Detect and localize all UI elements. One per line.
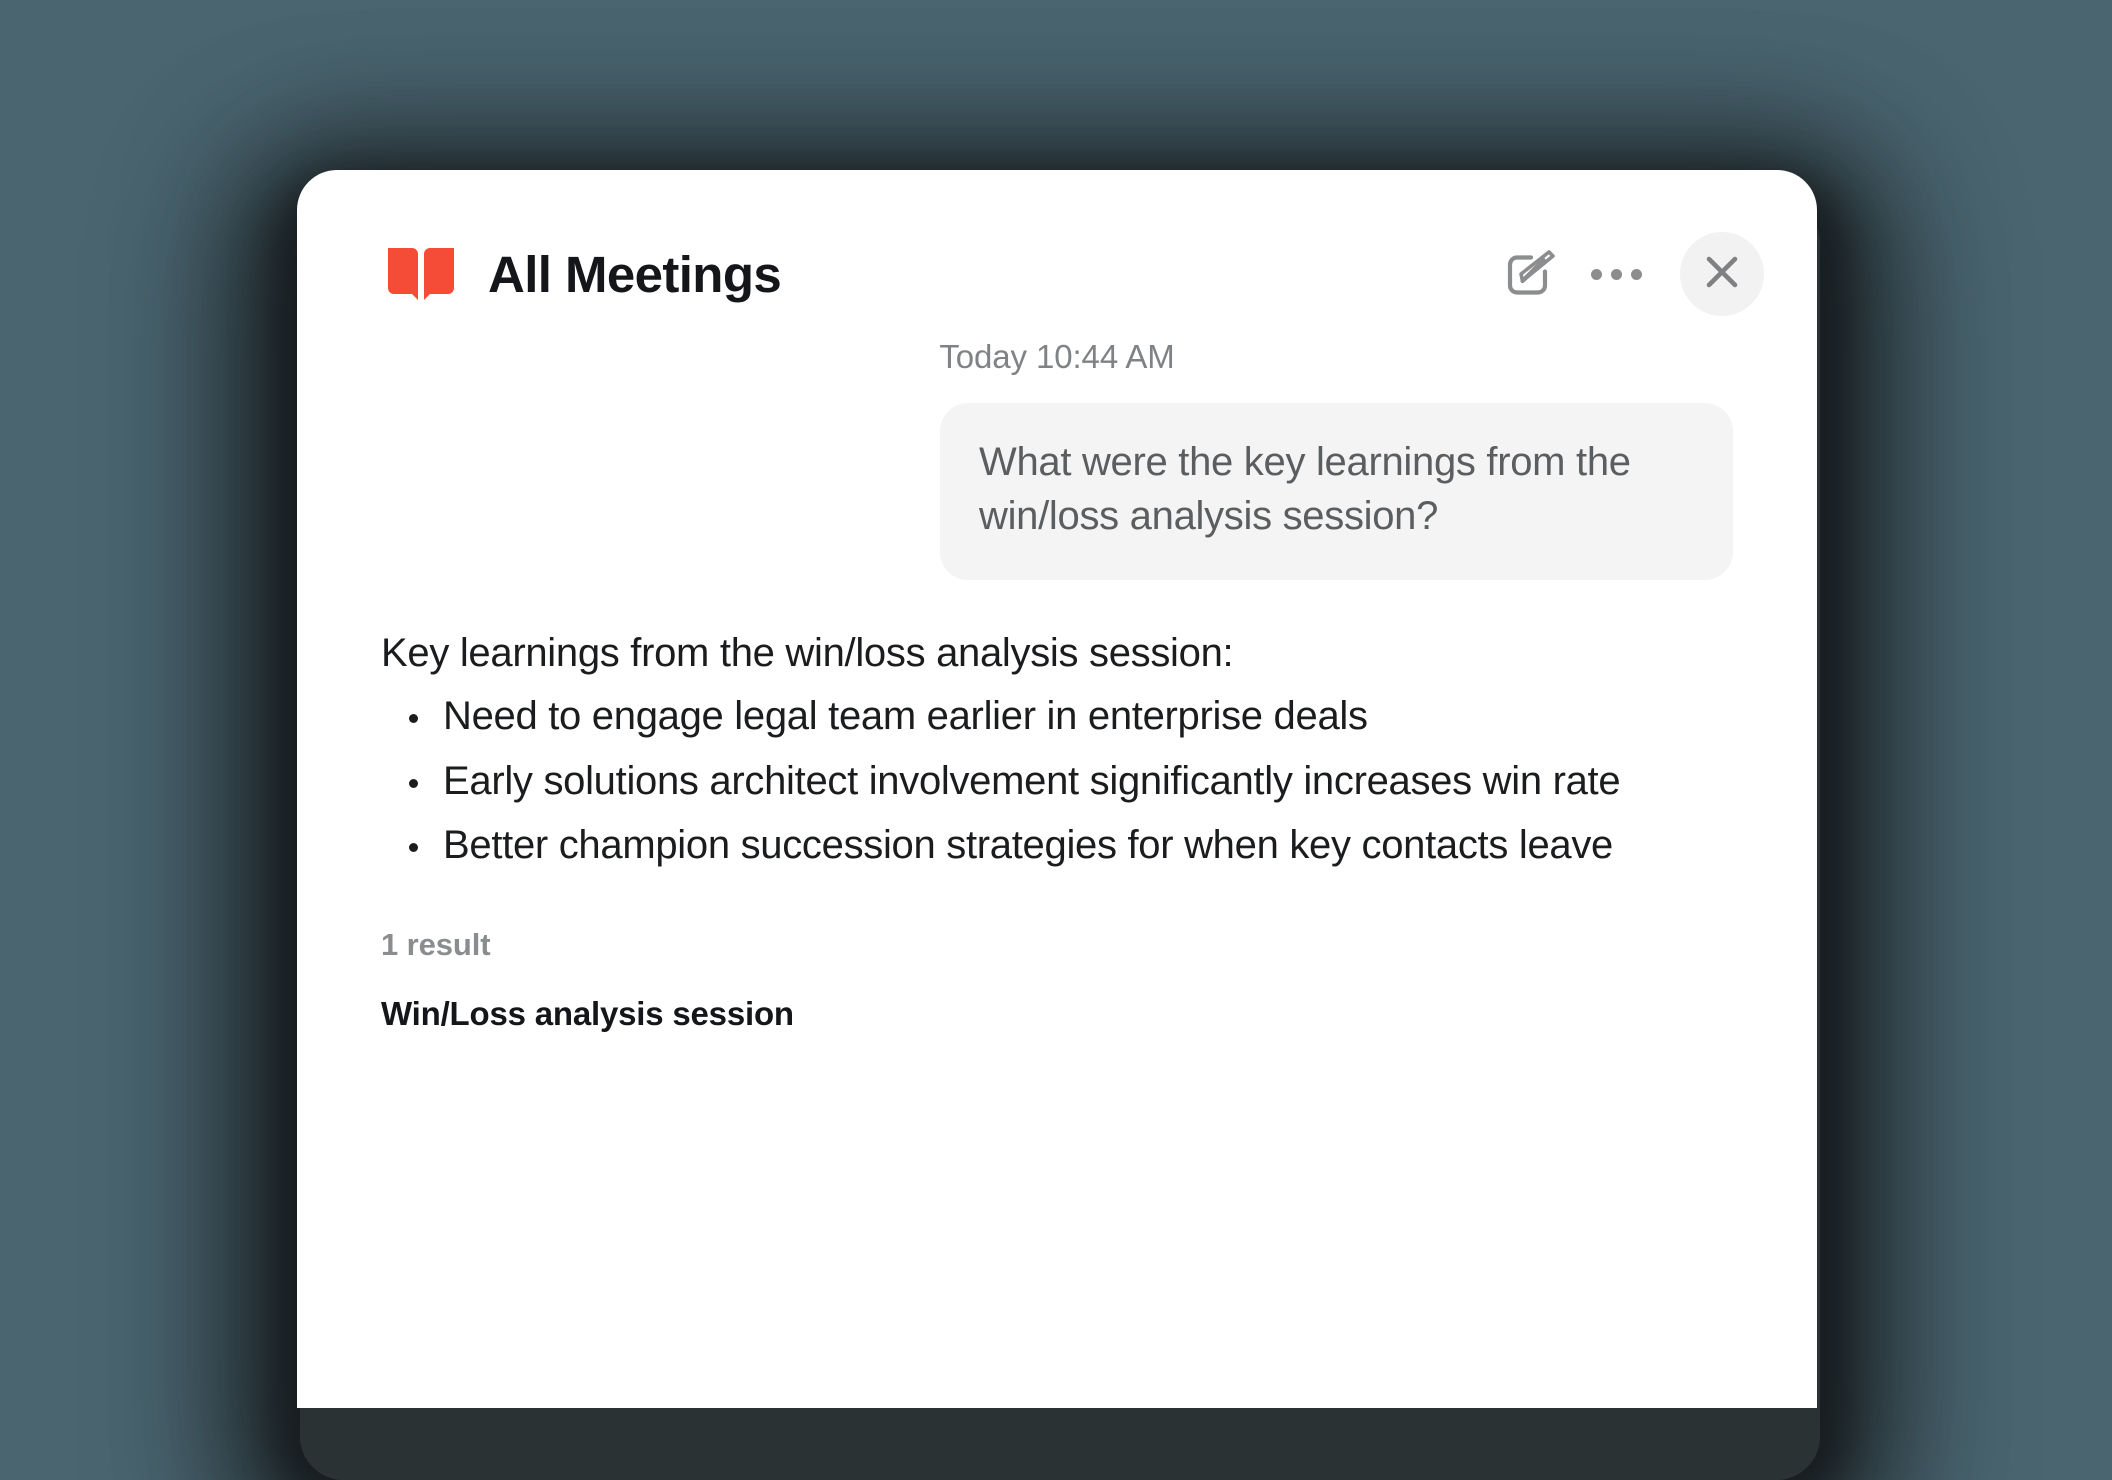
page-title: All Meetings [488,249,781,300]
panel-header: All Meetings [297,170,1817,300]
more-horizontal-icon-dot2 [1611,269,1622,280]
user-message-row: What were the key learnings from the win… [297,376,1817,580]
open-book-icon [386,246,456,302]
app-backdrop: All Meetings [0,0,2112,1408]
user-message-text: What were the key learnings from the win… [979,436,1694,543]
close-button[interactable] [1680,232,1764,316]
brand: All Meetings [386,246,781,302]
answer-intro: Key learnings from the win/loss analysis… [381,627,1733,680]
list-item: Need to engage legal team earlier in ent… [381,689,1733,744]
close-icon [1700,250,1744,299]
compose-button[interactable] [1502,246,1558,302]
more-horizontal-icon-dot3 [1631,269,1642,280]
result-count-label: 1 result [381,927,1733,963]
user-message-bubble: What were the key learnings from the win… [940,403,1733,580]
result-item-title[interactable]: Win/Loss analysis session [381,995,1733,1033]
results-section: 1 result Win/Loss analysis session [297,873,1817,1033]
conversation-timestamp: Today 10:44 AM [297,338,1817,376]
more-options-button[interactable] [1586,246,1646,302]
list-item: Early solutions architect involvement si… [381,754,1733,809]
answer-bullet-list: Need to engage legal team earlier in ent… [381,689,1733,873]
more-horizontal-icon [1591,269,1602,280]
assistant-answer: Key learnings from the win/loss analysis… [297,580,1817,873]
all-meetings-panel: All Meetings [297,170,1817,1408]
list-item: Better champion succession strategies fo… [381,818,1733,873]
header-actions [1502,232,1764,316]
compose-icon [1504,246,1556,303]
